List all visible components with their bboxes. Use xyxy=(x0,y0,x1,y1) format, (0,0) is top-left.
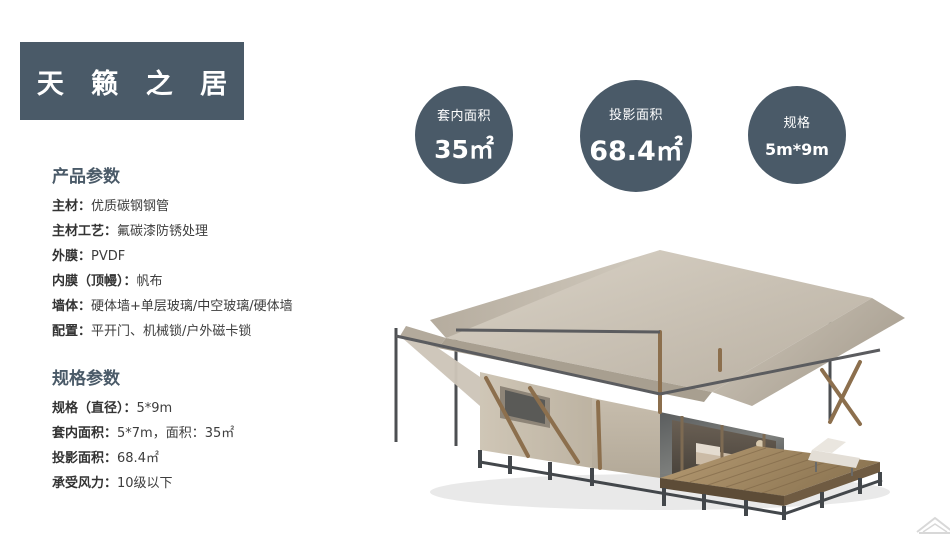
badge-label: 规格 xyxy=(783,112,810,131)
spec-label: 投影面积： xyxy=(52,450,117,467)
spec-row: 主材： 优质碳钢钢管 xyxy=(52,198,382,215)
badge-interior-area: 套内面积 35㎡ xyxy=(415,86,513,184)
badge-label: 投影面积 xyxy=(609,104,663,123)
section-heading-product: 产品参数 xyxy=(52,162,382,187)
spec-row: 主材工艺： 氟碳漆防锈处理 xyxy=(52,223,382,240)
badge-value: 5m*9m xyxy=(765,140,829,159)
spec-row: 墙体： 硬体墙+单层玻璃/中空玻璃/硬体墙 xyxy=(52,298,382,315)
title-banner: 天 籁 之 居 xyxy=(20,42,244,120)
spec-label: 外膜： xyxy=(52,248,91,265)
spec-label: 墙体： xyxy=(52,298,91,315)
badge-label: 套内面积 xyxy=(437,105,491,124)
spec-value: 优质碳钢钢管 xyxy=(91,198,169,215)
spec-value: 68.4㎡ xyxy=(117,450,159,467)
page-title: 天 籁 之 居 xyxy=(28,62,236,101)
spec-label: 主材： xyxy=(52,198,91,215)
spec-value: 5*7m，面积：35㎡ xyxy=(117,425,234,442)
spec-value: 平开门、机械锁/户外磁卡锁 xyxy=(91,323,251,340)
spec-row: 外膜： PVDF xyxy=(52,248,382,265)
spec-row: 套内面积： 5*7m，面积：35㎡ xyxy=(52,425,382,442)
spec-label: 承受风力： xyxy=(52,475,117,492)
page-root: 天 籁 之 居 产品参数 主材： 优质碳钢钢管 主材工艺： 氟碳漆防锈处理 外膜… xyxy=(0,0,950,534)
spec-value: 帆布 xyxy=(137,273,163,290)
spec-row: 内膜（顶幔）： 帆布 xyxy=(52,273,382,290)
spec-value: PVDF xyxy=(91,248,125,265)
tent-house-3d-render xyxy=(360,210,940,520)
spec-label: 主材工艺： xyxy=(52,223,117,240)
spec-row: 配置： 平开门、机械锁/户外磁卡锁 xyxy=(52,323,382,340)
spec-row: 投影面积： 68.4㎡ xyxy=(52,450,382,467)
spec-value: 5*9m xyxy=(137,400,173,417)
section-heading-specs: 规格参数 xyxy=(52,364,382,389)
wall-center xyxy=(592,398,660,478)
spec-value: 硬体墙+单层玻璃/中空玻璃/硬体墙 xyxy=(91,298,293,315)
spec-label: 套内面积： xyxy=(52,425,117,442)
spec-row: 承受风力： 10级以下 xyxy=(52,475,382,492)
spec-panel: 产品参数 主材： 优质碳钢钢管 主材工艺： 氟碳漆防锈处理 外膜： PVDF 内… xyxy=(52,162,382,500)
spec-row: 规格（直径）： 5*9m xyxy=(52,400,382,417)
badge-dimensions: 规格 5m*9m xyxy=(748,86,846,184)
spec-label: 规格（直径）： xyxy=(52,400,137,417)
spec-value: 10级以下 xyxy=(117,475,173,492)
lounge-chair-back xyxy=(812,438,846,453)
badge-projected-area: 投影面积 68.4㎡ xyxy=(580,80,692,192)
badge-value: 35㎡ xyxy=(434,130,494,166)
spec-label: 内膜（顶幔）： xyxy=(52,273,137,290)
badge-value: 68.4㎡ xyxy=(589,129,683,168)
spec-value: 氟碳漆防锈处理 xyxy=(117,223,208,240)
spec-label: 配置： xyxy=(52,323,91,340)
